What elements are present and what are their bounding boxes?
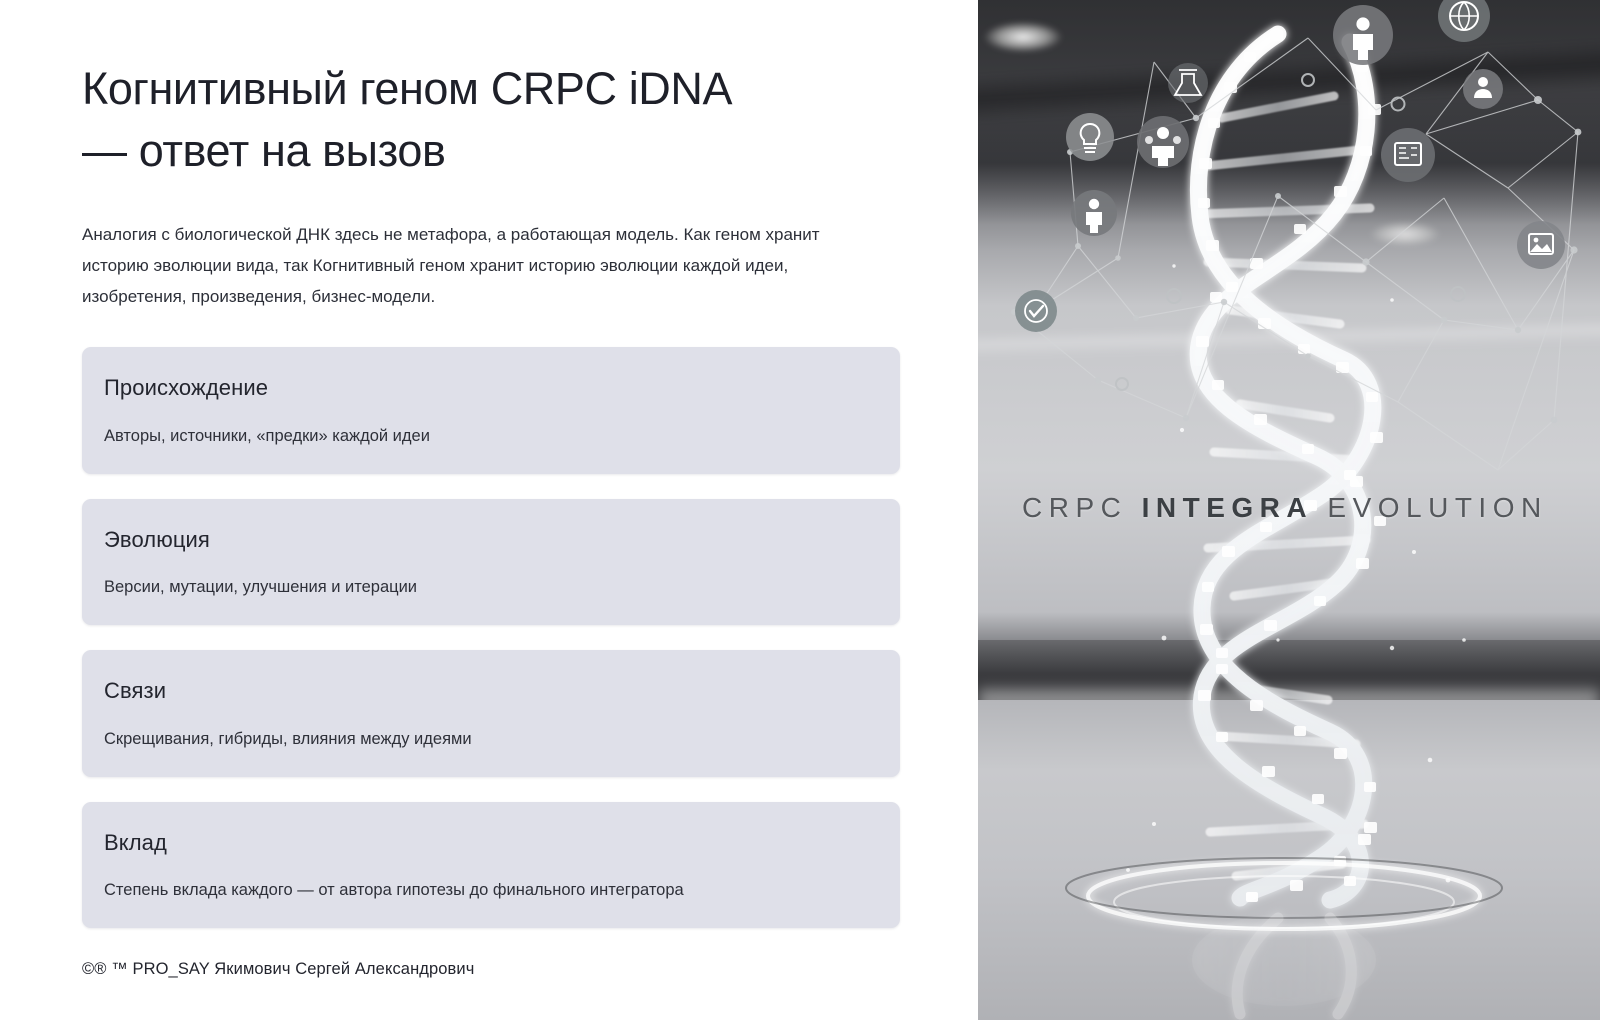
info-card-heading: Связи	[104, 677, 878, 705]
info-card-contribution[interactable]: Вклад Степень вклада каждого — от автора…	[82, 802, 900, 929]
icon-node-globe	[1438, 0, 1490, 42]
brand-bold: INTEGRA	[1142, 492, 1314, 523]
icon-node-science	[1168, 63, 1208, 103]
icon-node-user-group	[1137, 116, 1189, 168]
brand-overlay: CRPC INTEGRA EVOLUTION	[1022, 492, 1582, 524]
info-card-body: Степень вклада каждого — от автора гипот…	[104, 879, 878, 902]
page-title: Когнитивный геном CRPC iDNA — ответ на в…	[82, 58, 882, 182]
info-card-body: Авторы, источники, «предки» каждой идеи	[104, 425, 878, 448]
icon-node-person	[1071, 190, 1117, 236]
content-pane: Когнитивный геном CRPC iDNA — ответ на в…	[0, 0, 978, 1020]
icon-node-presentation	[1381, 128, 1435, 182]
icon-node-lightbulb	[1066, 113, 1114, 161]
info-card-origin[interactable]: Происхождение Авторы, источники, «предки…	[82, 347, 900, 474]
hero-image-panel: CRPC INTEGRA EVOLUTION	[978, 0, 1600, 1020]
intro-paragraph: Аналогия с биологической ДНК здесь не ме…	[82, 220, 864, 313]
info-card-list: Происхождение Авторы, источники, «предки…	[82, 347, 900, 928]
info-card-heading: Эволюция	[104, 526, 878, 554]
page-title-line-1: Когнитивный геном CRPC iDNA	[82, 58, 882, 120]
info-card-evolution[interactable]: Эволюция Версии, мутации, улучшения и ит…	[82, 499, 900, 626]
info-card-heading: Происхождение	[104, 374, 878, 402]
copyright-notice: ©® ™ PRO_SAY Якимович Сергей Александров…	[82, 960, 900, 979]
brand-suffix: EVOLUTION	[1313, 492, 1548, 523]
brand-prefix: CRPC	[1022, 492, 1142, 523]
info-card-connections[interactable]: Связи Скрещивания, гибриды, влияния межд…	[82, 650, 900, 777]
icon-node-person	[1333, 5, 1393, 65]
icon-node-image	[1517, 221, 1565, 269]
icon-node-user-badge	[1463, 69, 1503, 109]
info-card-body: Версии, мутации, улучшения и итерации	[104, 576, 878, 599]
info-card-body: Скрещивания, гибриды, влияния между идея…	[104, 728, 878, 751]
page-title-line-2: — ответ на вызов	[82, 120, 882, 182]
icon-node-check-circle	[1015, 290, 1057, 332]
info-card-heading: Вклад	[104, 829, 878, 857]
